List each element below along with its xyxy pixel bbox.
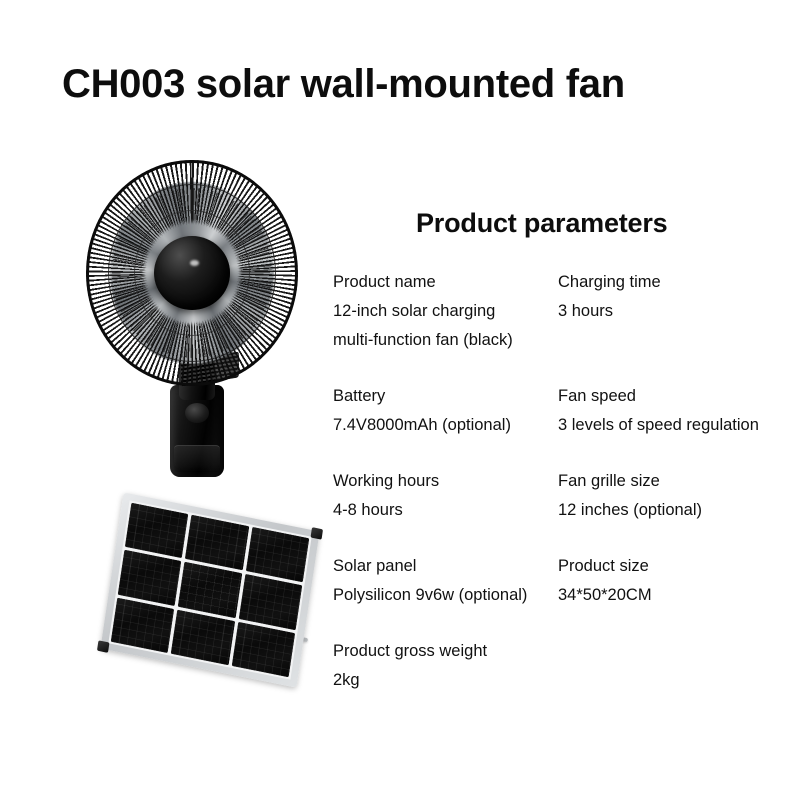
spec-row: Solar panel Polysilicon 9v6w (optional) … xyxy=(333,552,793,610)
solar-cell-grid xyxy=(108,500,311,679)
spec-value: 34*50*20CM xyxy=(558,581,800,610)
spec-value-line2: multi-function fan (black) xyxy=(333,326,563,355)
spec-label: Battery xyxy=(333,382,563,411)
solar-cell xyxy=(178,562,242,618)
spec-cell-working-hours: Working hours 4-8 hours xyxy=(333,467,563,525)
fan-grille xyxy=(86,160,298,386)
spec-label: Product size xyxy=(558,552,800,581)
solar-cell xyxy=(231,621,295,677)
spec-label: Fan grille size xyxy=(558,467,800,496)
spec-cell-fan-speed: Fan speed 3 levels of speed regulation xyxy=(558,382,800,440)
product-parameters-table: Product name 12-inch solar charging 12-i… xyxy=(333,268,793,722)
wall-mounted-fan-photo xyxy=(76,160,306,490)
spec-value: 3 hours xyxy=(558,297,800,326)
solar-panel-photo xyxy=(110,495,325,705)
spec-value: 2kg xyxy=(333,666,563,695)
solar-cell xyxy=(238,574,302,630)
panel-corner-top-right xyxy=(311,527,324,540)
spec-cell-charging-time: Charging time 3 hours xyxy=(558,268,800,326)
spec-label: Solar panel xyxy=(333,552,563,581)
fan-bracket-lip xyxy=(174,445,220,472)
spec-label: Working hours xyxy=(333,467,563,496)
spec-cell-product-name: Product name 12-inch solar charging 12-i… xyxy=(333,268,563,355)
spec-cell-product-gross-weight: Product gross weight 2kg xyxy=(333,637,563,695)
spec-row: Battery 7.4V8000mAh (optional) Fan speed… xyxy=(333,382,793,440)
page-title: CH003 solar wall-mounted fan xyxy=(62,62,762,106)
fan-hub-highlight xyxy=(190,260,199,266)
spec-cell-fan-grille-size: Fan grille size 12 inches (optional) xyxy=(558,467,800,525)
panel-corner-bottom-left xyxy=(97,640,110,653)
spec-label: Product gross weight xyxy=(333,637,563,666)
spec-value: 12 inches (optional) xyxy=(558,496,800,525)
spec-cell-solar-panel: Solar panel Polysilicon 9v6w (optional) xyxy=(333,552,563,610)
spec-label: Product name xyxy=(333,268,563,297)
solar-cell xyxy=(171,609,235,665)
spec-value: Polysilicon 9v6w (optional) xyxy=(333,581,563,610)
product-parameters-heading: Product parameters xyxy=(416,208,668,239)
solar-cell xyxy=(111,597,175,653)
spec-value: 12-inch solar charging xyxy=(333,297,563,326)
solar-cell xyxy=(245,527,309,583)
spec-value: 7.4V8000mAh (optional) xyxy=(333,411,563,440)
spec-label: Charging time xyxy=(558,268,800,297)
fan-hub-cap xyxy=(154,236,230,310)
spec-cell-product-size: Product size 34*50*20CM xyxy=(558,552,800,610)
solar-panel-frame xyxy=(100,492,319,687)
spec-value: 4-8 hours xyxy=(333,496,563,525)
solar-cell xyxy=(125,503,189,559)
fan-control-knob-icon xyxy=(185,403,209,423)
solar-cell xyxy=(118,550,182,606)
spec-row: Working hours 4-8 hours Fan grille size … xyxy=(333,467,793,525)
spec-label: Fan speed xyxy=(558,382,800,411)
spec-row: Product gross weight 2kg xyxy=(333,637,793,695)
spec-row: Product name 12-inch solar charging 12-i… xyxy=(333,268,793,355)
solar-cell xyxy=(185,515,249,571)
spec-cell-battery: Battery 7.4V8000mAh (optional) xyxy=(333,382,563,440)
spec-value: 3 levels of speed regulation xyxy=(558,411,800,440)
